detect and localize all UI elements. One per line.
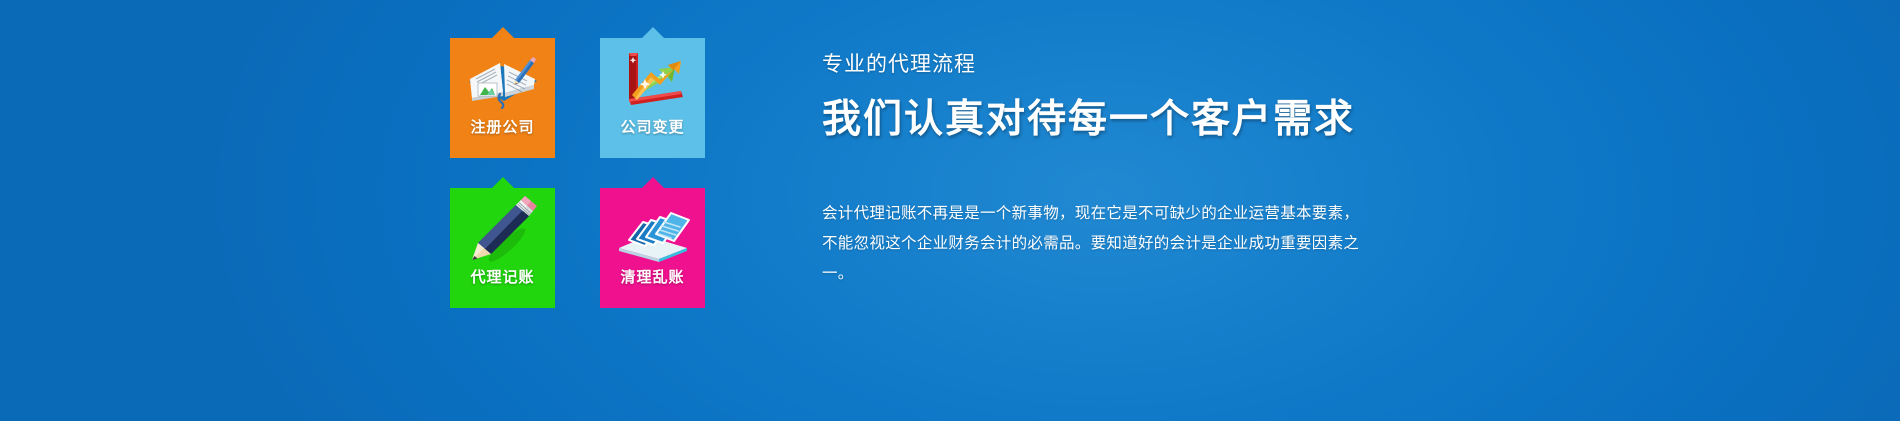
tile-label: 注册公司 <box>450 120 555 135</box>
banner-body-text: 会计代理记账不再是是一个新事物，现在它是不可缺少的企业运营基本要素，不能忽视这个… <box>822 198 1374 288</box>
service-tile-grid: 注册公司 <box>450 38 710 348</box>
document-stack-icon <box>600 188 705 270</box>
service-tile-company-change[interactable]: 公司变更 <box>600 38 705 158</box>
banner-headline: 我们认真对待每一个客户需求 <box>822 100 1355 139</box>
tile-body: 注册公司 <box>450 38 555 158</box>
tile-label: 清理乱账 <box>600 270 705 285</box>
tile-pointer-triangle <box>642 177 664 188</box>
pencil-icon <box>450 188 555 270</box>
tile-body: 代理记账 <box>450 188 555 308</box>
tile-pointer-triangle <box>492 27 514 38</box>
banner-copy: 专业的代理流程 我们认真对待每一个客户需求 会计代理记账不再是是一个新事物，现在… <box>822 0 1622 421</box>
tile-pointer-triangle <box>642 27 664 38</box>
banner-eyebrow: 专业的代理流程 <box>822 54 976 75</box>
open-book-icon <box>450 38 555 120</box>
tile-pointer-triangle <box>492 177 514 188</box>
tile-label: 公司变更 <box>600 120 705 135</box>
tile-body: 公司变更 <box>600 38 705 158</box>
service-banner: 注册公司 <box>0 0 1900 421</box>
service-tile-account-cleanup[interactable]: 清理乱账 <box>600 188 705 308</box>
tile-body: 清理乱账 <box>600 188 705 308</box>
tile-label: 代理记账 <box>450 270 555 285</box>
growth-chart-arrow-icon <box>600 38 705 120</box>
service-tile-register-company[interactable]: 注册公司 <box>450 38 555 158</box>
service-tile-bookkeeping[interactable]: 代理记账 <box>450 188 555 308</box>
